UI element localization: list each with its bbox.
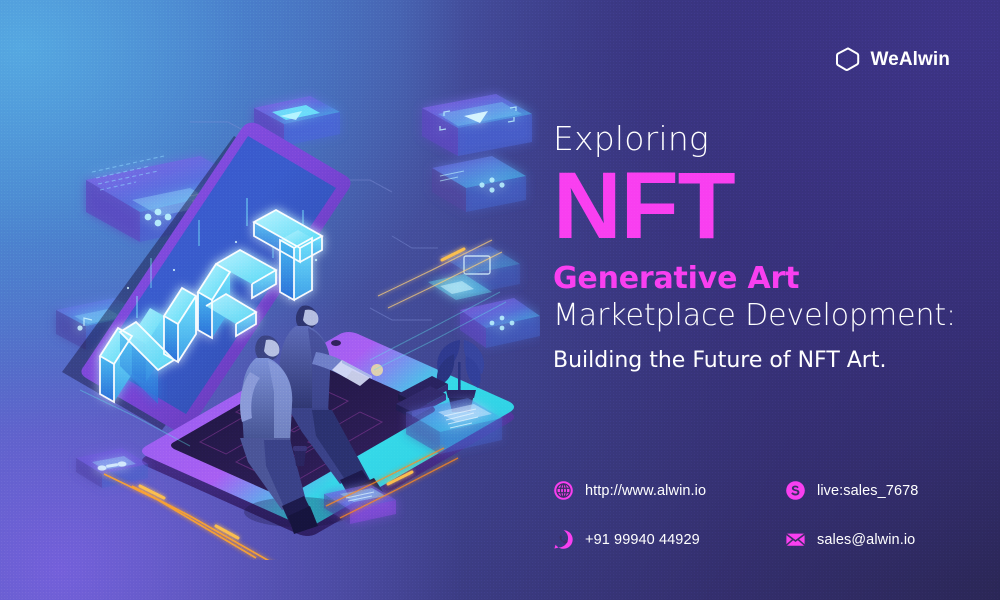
- tagline-text: Building the Future of NFT Art.: [553, 347, 983, 376]
- nft-marketing-banner: WeAlwin Exploring NFT Generative Art Mar…: [0, 0, 1000, 600]
- floating-ui-card-gamepad: [76, 448, 148, 488]
- contact-skype-label: live:sales_7678: [817, 483, 918, 499]
- contact-phone[interactable]: +91 99940 44929: [553, 529, 785, 550]
- floating-ui-card-top-right: [422, 94, 532, 156]
- contact-website[interactable]: http://www.alwin.io: [553, 480, 785, 501]
- hexagon-icon: [835, 46, 861, 72]
- contact-phone-label: +91 99940 44929: [585, 532, 700, 548]
- eyebrow-text: Exploring: [553, 122, 983, 157]
- illustration-svg: [40, 60, 540, 560]
- headline-block: Exploring NFT Generative Art Marketplace…: [553, 122, 983, 375]
- contact-email[interactable]: sales@alwin.io: [785, 529, 973, 550]
- skype-icon: [785, 480, 806, 501]
- envelope-icon: [785, 529, 806, 550]
- globe-icon: [553, 480, 574, 501]
- laptop-camera-dot: [331, 340, 341, 346]
- contact-skype[interactable]: live:sales_7678: [785, 480, 973, 501]
- contact-website-label: http://www.alwin.io: [585, 483, 706, 499]
- contact-email-label: sales@alwin.io: [817, 532, 915, 548]
- page-title: NFT: [553, 163, 983, 250]
- floating-ui-card-right-2: [432, 156, 526, 212]
- whatsapp-icon: [553, 529, 574, 550]
- contact-details: http://www.alwin.io live:sales_7678 +91 …: [553, 480, 973, 578]
- brand-name: WeAlwin: [870, 50, 950, 69]
- wealwin-logo[interactable]: WeAlwin: [835, 46, 950, 72]
- accent-line: Generative Art: [553, 261, 983, 297]
- subtitle-text: Marketplace Development:: [553, 298, 983, 335]
- nft-isometric-illustration: [40, 60, 540, 560]
